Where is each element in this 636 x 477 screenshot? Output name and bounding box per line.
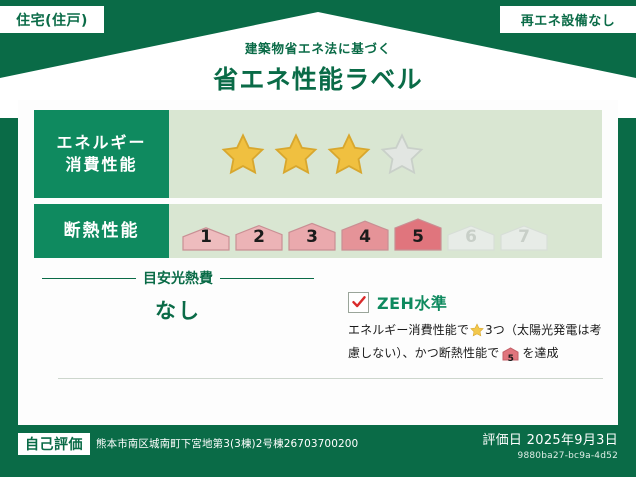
grade-value: 7 bbox=[499, 227, 549, 247]
evaluation-date-value: 2025年9月3日 bbox=[527, 433, 618, 448]
grade-value: 3 bbox=[287, 227, 337, 247]
renewable-equipment-tag: 再エネ設備なし bbox=[500, 6, 636, 33]
insulation-label: 断熱性能 bbox=[64, 220, 140, 243]
grade-value: 1 bbox=[181, 227, 231, 247]
zeh-title: ZEH水準 bbox=[377, 290, 447, 314]
energy-performance-value bbox=[169, 110, 602, 198]
label-id: 9880ba27-bc9a-4d52 bbox=[482, 451, 618, 461]
title-block: 建築物省エネ法に基づく 省エネ性能ラベル bbox=[0, 38, 636, 96]
insulation-grade-5: 5 bbox=[393, 210, 443, 252]
star-filled-icon bbox=[221, 132, 265, 176]
energy-performance-label-head: エネルギー 消費性能 bbox=[34, 110, 169, 198]
zeh-description: エネルギー消費性能で 3つ（太陽光発電は考慮しない）、かつ断熱性能で 5 を達成 bbox=[348, 321, 604, 368]
utility-cost-heading: 目安光熱費 bbox=[42, 268, 314, 288]
evaluation-date-label: 評価日 bbox=[482, 433, 522, 448]
insulation-performance-row: 断熱性能 1234567 bbox=[34, 204, 602, 258]
insulation-grade-4: 4 bbox=[340, 210, 390, 252]
energy-label-line2: 消費性能 bbox=[65, 154, 137, 176]
footer: 自己評価 熊本市南区城南町下宮地第3(3棟)2号棟26703700200 評価日… bbox=[0, 425, 636, 477]
evaluation-date-block: 評価日 2025年9月3日 9880ba27-bc9a-4d52 bbox=[482, 429, 618, 461]
rule-right bbox=[220, 278, 314, 279]
evaluation-date: 評価日 2025年9月3日 bbox=[482, 429, 618, 448]
label-panel: エネルギー 消費性能 断熱性能 1234567 目安光熱費 なし bbox=[18, 100, 618, 425]
self-evaluation-badge: 自己評価 bbox=[18, 433, 90, 455]
zeh-heading: ZEH水準 bbox=[348, 290, 604, 314]
star-filled-icon bbox=[274, 132, 318, 176]
utility-cost-title: 目安光熱費 bbox=[143, 268, 213, 288]
inline-badge-value: 5 bbox=[502, 352, 519, 367]
utility-cost-value: なし bbox=[42, 295, 314, 325]
star-rating bbox=[169, 132, 424, 176]
insulation-grade-3: 3 bbox=[287, 210, 337, 252]
energy-performance-label: 住宅(住戸) 再エネ設備なし 建築物省エネ法に基づく 省エネ性能ラベル エネルギ… bbox=[0, 0, 636, 477]
page-title: 省エネ性能ラベル bbox=[0, 60, 636, 96]
insulation-grade-7: 7 bbox=[499, 210, 549, 252]
grade-value: 5 bbox=[393, 227, 443, 247]
zeh-desc-part1: エネルギー消費性能で bbox=[348, 323, 469, 337]
checkbox-checked-icon[interactable] bbox=[348, 292, 369, 313]
insulation-grade-1: 1 bbox=[181, 210, 231, 252]
grade-value: 2 bbox=[234, 227, 284, 247]
grade-value: 6 bbox=[446, 227, 496, 247]
insulation-performance-value: 1234567 bbox=[169, 204, 602, 258]
star-inline-icon bbox=[470, 323, 484, 344]
insulation-grade-6: 6 bbox=[446, 210, 496, 252]
zeh-desc-part2: 3つ（太陽光発電 bbox=[485, 323, 577, 337]
star-empty-icon bbox=[380, 132, 424, 176]
energy-label-line1: エネルギー bbox=[56, 132, 146, 154]
insulation-grade-2: 2 bbox=[234, 210, 284, 252]
energy-performance-row: エネルギー 消費性能 bbox=[34, 110, 602, 198]
zeh-desc-part4: を達成 bbox=[522, 346, 558, 360]
insulation-performance-label-head: 断熱性能 bbox=[34, 204, 169, 258]
insulation-grade-scale: 1234567 bbox=[169, 210, 549, 252]
building-type-tag: 住宅(住戸) bbox=[0, 6, 104, 33]
zeh-block: ZEH水準 エネルギー消費性能で 3つ（太陽光発電は考慮しない）、かつ断熱性能で… bbox=[348, 290, 604, 368]
insulation-grade-inline-badge: 5 bbox=[502, 347, 519, 368]
property-address: 熊本市南区城南町下宮地第3(3棟)2号棟26703700200 bbox=[96, 436, 358, 451]
rule-left bbox=[42, 278, 136, 279]
title-subtitle: 建築物省エネ法に基づく bbox=[0, 38, 636, 57]
grade-value: 4 bbox=[340, 227, 390, 247]
star-filled-icon bbox=[327, 132, 371, 176]
panel-divider bbox=[58, 378, 603, 379]
